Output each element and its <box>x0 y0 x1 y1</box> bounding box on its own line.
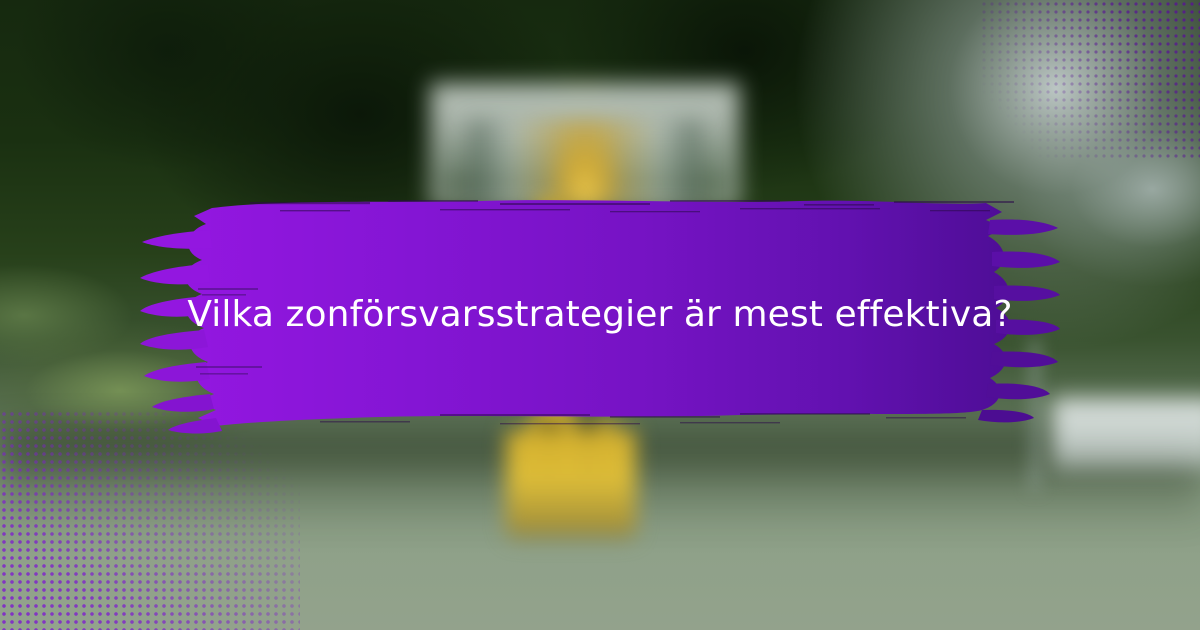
brush-finger-left-6 <box>152 394 214 412</box>
white-bench-blur <box>1052 398 1200 470</box>
brush-finger-left-5 <box>144 362 210 382</box>
brush-finger-left-1 <box>142 230 212 249</box>
brush-finger-right-7 <box>978 410 1034 423</box>
brush-finger-right-2 <box>992 252 1060 268</box>
brush-finger-right-6 <box>986 384 1050 400</box>
brush-finger-left-2 <box>140 264 210 284</box>
brush-finger-right-4 <box>996 320 1060 335</box>
brush-finger-left-4 <box>140 330 208 350</box>
brush-finger-right-5 <box>990 352 1058 368</box>
brush-body <box>186 200 1011 426</box>
brush-finger-left-3 <box>140 296 208 317</box>
social-card-canvas: Vilka zonförsvarsstrategier är mest effe… <box>0 0 1200 630</box>
yellow-post-base-blur <box>506 430 636 540</box>
brush-finger-right-3 <box>994 286 1060 301</box>
brush-finger-right-1 <box>988 219 1058 234</box>
purple-brush-stroke-banner <box>140 190 1060 445</box>
brush-finger-left-7 <box>168 418 222 434</box>
